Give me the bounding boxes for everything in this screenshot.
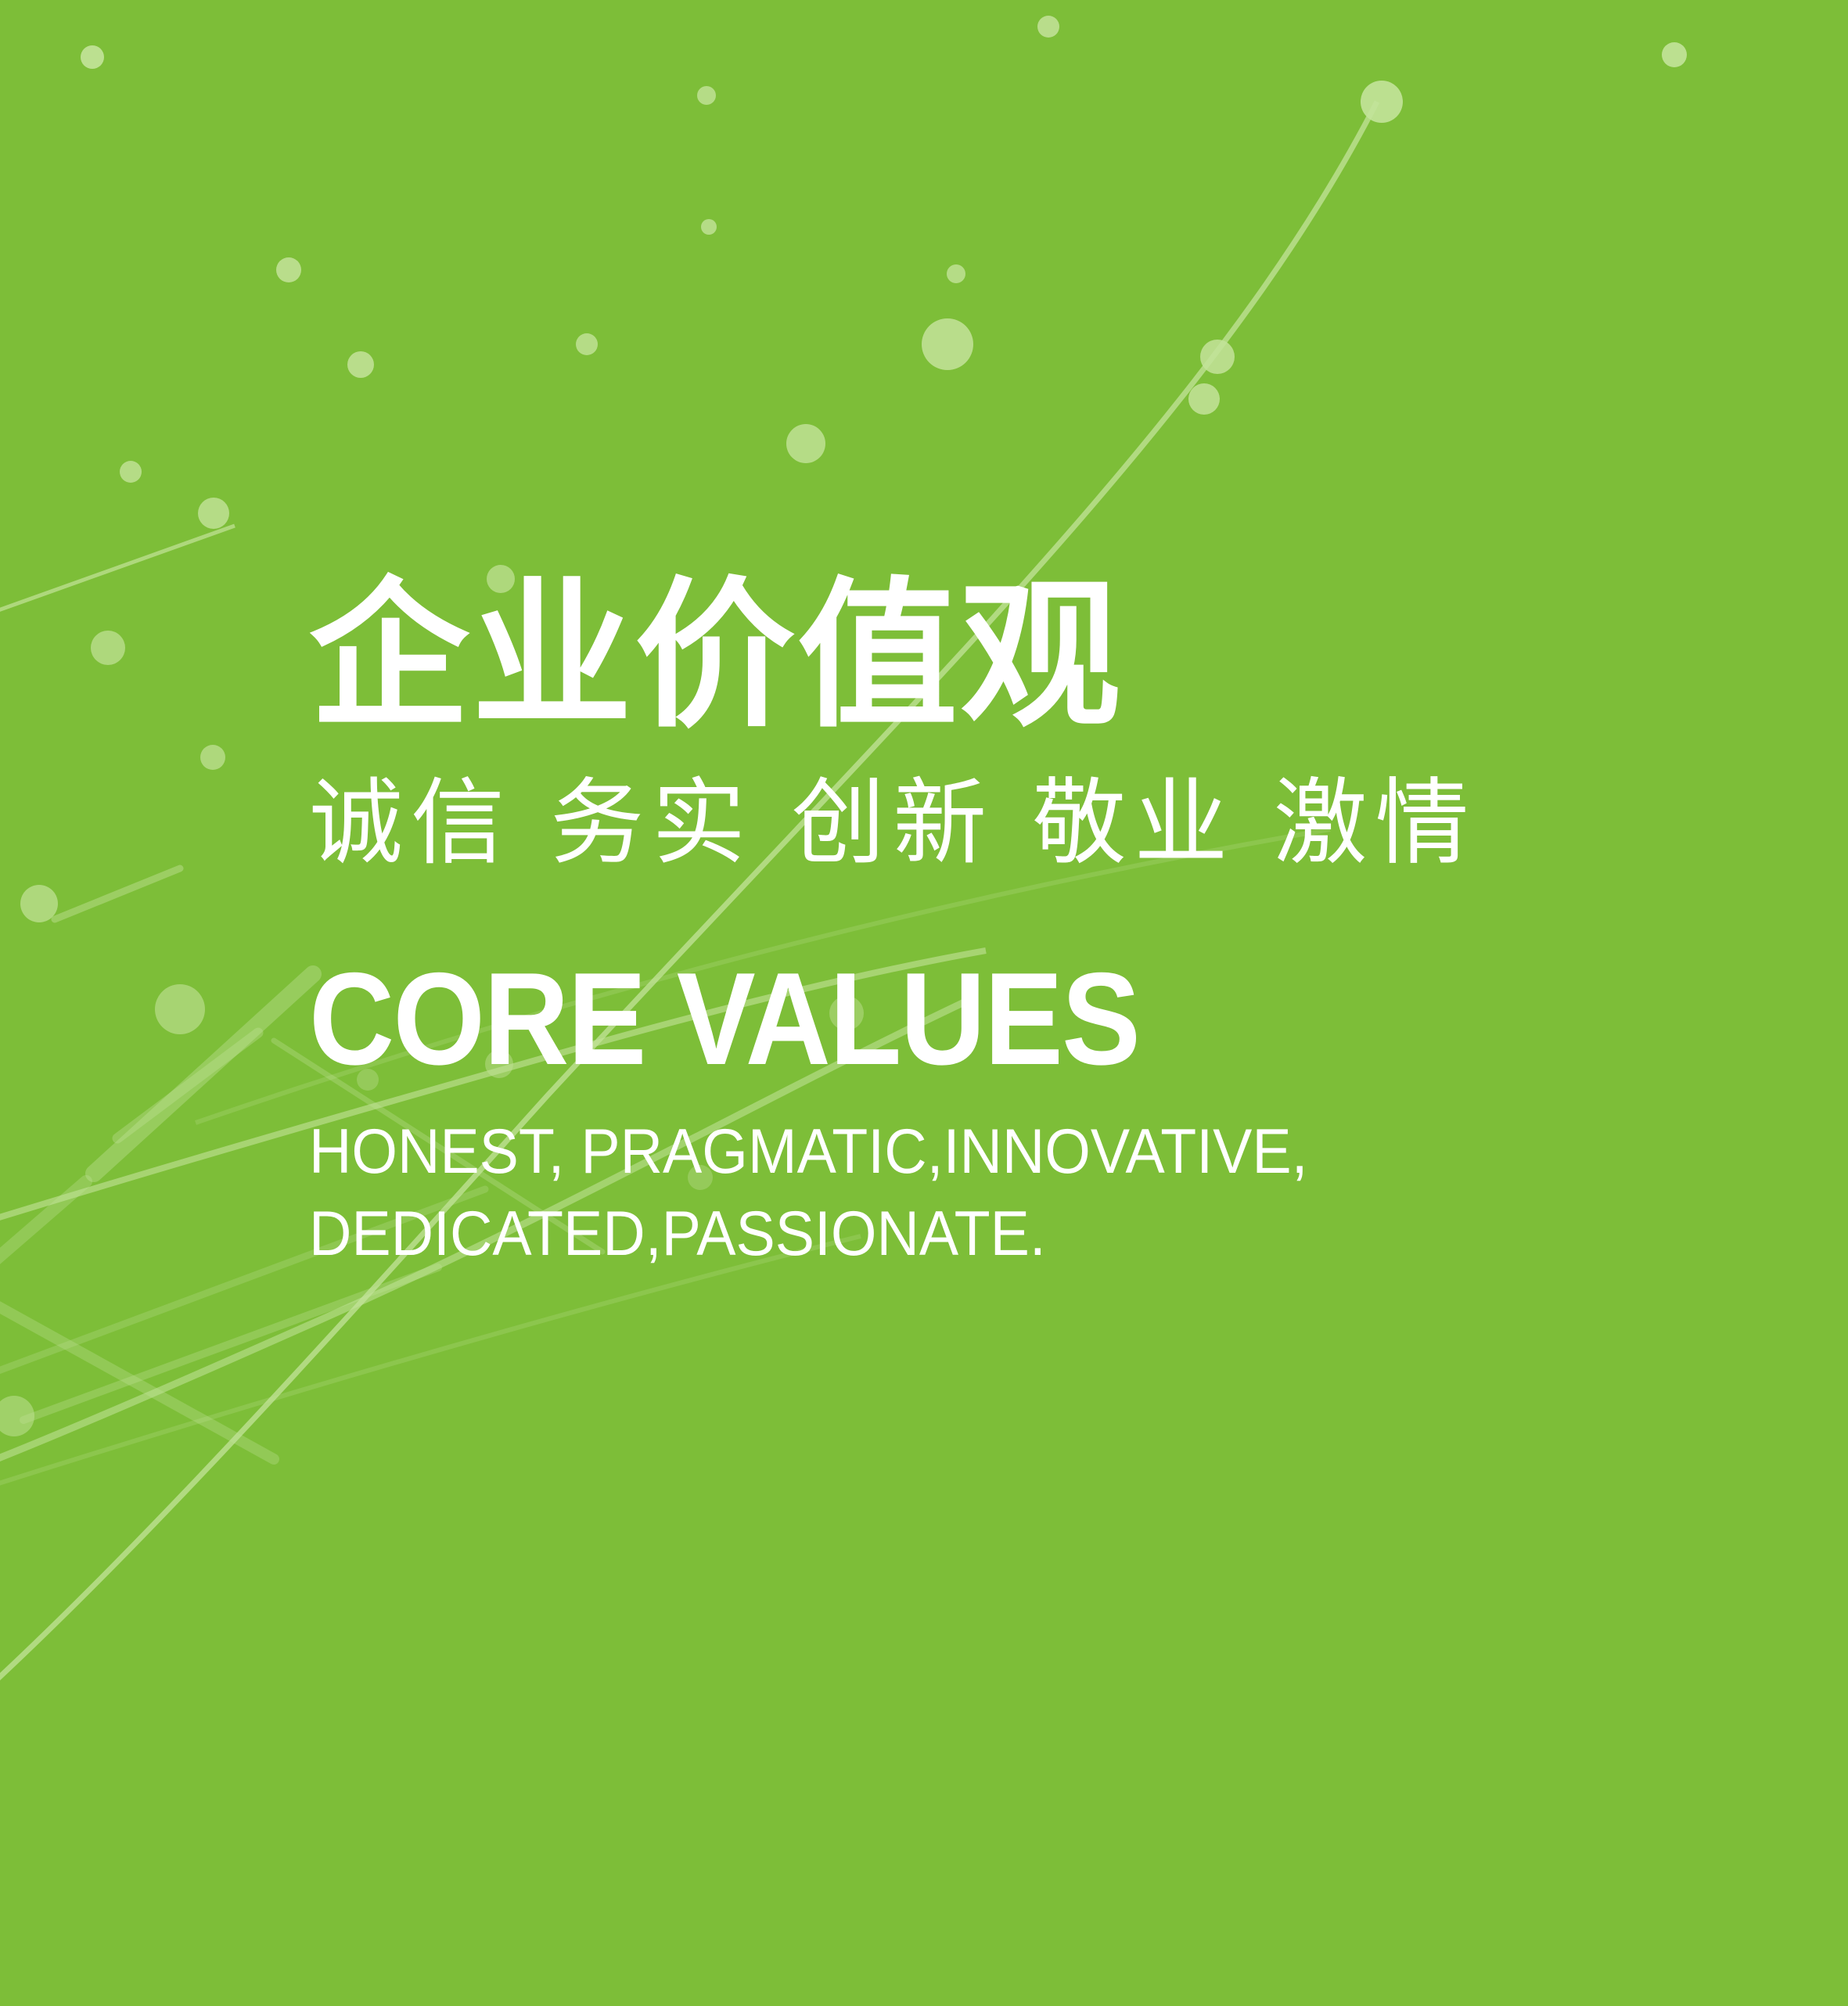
page-subtitle-english: HONEST, PRAGMATIC,INNOVATIVE, DEDICATED,… [309, 1111, 1619, 1276]
page-subtitle-chinese: 诚信 务实 创新 敬业 激情 [309, 756, 1717, 892]
page-subtitle-english-line-2: DEDICATED,PASSIONATE. [309, 1193, 1619, 1275]
page-title-chinese: 企业价值观 [309, 575, 1717, 739]
page-subtitle-english-line-1: HONEST, PRAGMATIC,INNOVATIVE, [309, 1111, 1619, 1193]
page-title-english: CORE VALUES [309, 953, 1577, 1084]
core-values-banner: 企业价值观 诚信 务实 创新 敬业 激情 CORE VALUES HONEST,… [0, 0, 1848, 2006]
text-block: 企业价值观 诚信 务实 创新 敬业 激情 CORE VALUES HONEST,… [309, 575, 1717, 1276]
